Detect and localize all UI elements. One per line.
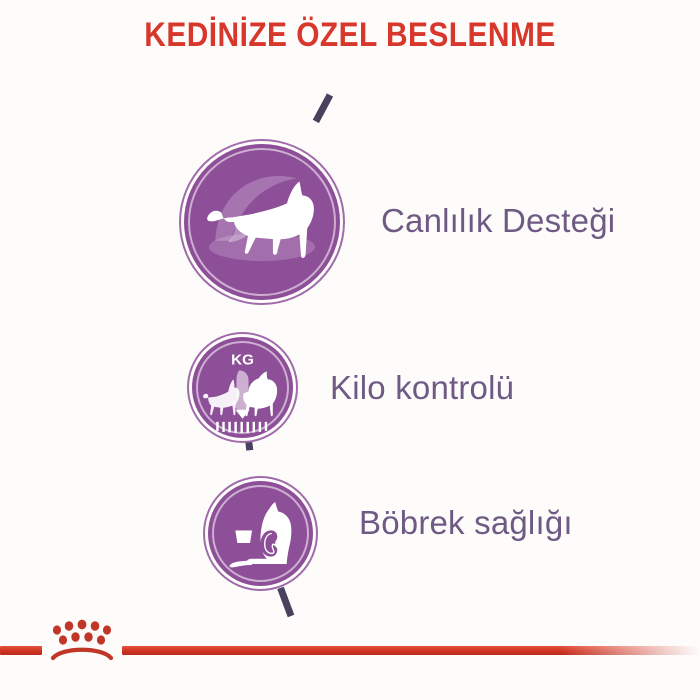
walking-cat-glyph xyxy=(184,144,340,300)
feature-label-kidney: Böbrek sağlığı xyxy=(359,506,573,539)
feature-label-vitality: Canlılık Desteği xyxy=(381,204,615,237)
weight-control-glyph: KG xyxy=(192,337,293,438)
feature-label-weight: Kilo kontrolü xyxy=(330,371,514,404)
kidney-cat-glyph xyxy=(208,481,313,586)
kg-caption: KG xyxy=(231,351,254,368)
footer-rule-right xyxy=(122,646,700,655)
footer-rule-left xyxy=(0,646,42,655)
sitting-cat-kidney-icon[interactable] xyxy=(208,481,313,586)
weight-control-cat-scale-icon[interactable]: KG xyxy=(192,337,293,438)
royal-canin-crown-icon xyxy=(46,617,118,665)
walking-cat-vitality-icon[interactable] xyxy=(184,144,340,300)
infographic-canvas: KEDİNİZE ÖZEL BESLENME Canlılık Desteği … xyxy=(0,0,700,700)
dashed-connector-path xyxy=(0,0,700,700)
page-title: KEDİNİZE ÖZEL BESLENME xyxy=(42,16,658,55)
